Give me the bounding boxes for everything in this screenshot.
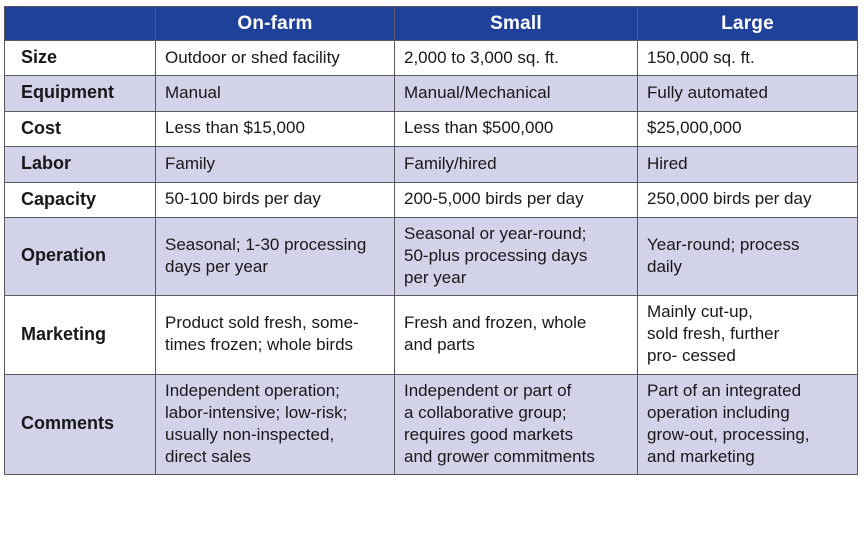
cell-line: Hired [647, 153, 848, 175]
cell-small: Seasonal or year-round;50-plus processin… [395, 217, 638, 295]
cell-large: Part of an integratedoperation including… [638, 374, 858, 474]
row-label-marketing: Marketing [5, 296, 156, 374]
table-row: EquipmentManualManual/MechanicalFully au… [5, 76, 858, 111]
cell-onfarm: Outdoor or shed facility [156, 41, 395, 76]
cell-line: Part of an integrated [647, 380, 848, 402]
cell-onfarm: Manual [156, 76, 395, 111]
cell-line: times frozen; whole birds [165, 334, 385, 356]
cell-large: Year-round; processdaily [638, 217, 858, 295]
row-label-capacity: Capacity [5, 182, 156, 217]
row-label-comments: Comments [5, 374, 156, 474]
cell-line: Less than $15,000 [165, 117, 385, 139]
cell-line: 250,000 birds per day [647, 188, 848, 210]
cell-line: Outdoor or shed facility [165, 47, 385, 69]
cell-onfarm: Seasonal; 1-30 processingdays per year [156, 217, 395, 295]
cell-small: 200-5,000 birds per day [395, 182, 638, 217]
facility-comparison-table: On-farm Small Large SizeOutdoor or shed … [4, 6, 858, 475]
cell-line: Product sold fresh, some- [165, 312, 385, 334]
row-label-labor: Labor [5, 147, 156, 182]
cell-small: Independent or part ofa collaborative gr… [395, 374, 638, 474]
cell-line: $25,000,000 [647, 117, 848, 139]
cell-line: 50-100 birds per day [165, 188, 385, 210]
cell-line: Manual [165, 82, 385, 104]
cell-line: sold fresh, further [647, 323, 848, 345]
comparison-table-container: On-farm Small Large SizeOutdoor or shed … [4, 6, 857, 524]
cell-line: Fully automated [647, 82, 848, 104]
cell-line: and marketing [647, 446, 848, 468]
header-row: On-farm Small Large [5, 7, 858, 41]
cell-line: Year-round; process [647, 234, 848, 256]
table-row: LaborFamilyFamily/hiredHired [5, 147, 858, 182]
cell-line: Family [165, 153, 385, 175]
cell-line: daily [647, 256, 848, 278]
cell-large: Hired [638, 147, 858, 182]
cell-large: 150,000 sq. ft. [638, 41, 858, 76]
cell-line: Seasonal; 1-30 processing [165, 234, 385, 256]
cell-line: 200-5,000 birds per day [404, 188, 628, 210]
cell-small: 2,000 to 3,000 sq. ft. [395, 41, 638, 76]
cell-onfarm: Less than $15,000 [156, 111, 395, 146]
cell-line: per year [404, 267, 628, 289]
cell-line: and grower commitments [404, 446, 628, 468]
cell-large: Mainly cut-up,sold fresh, furtherpro- ce… [638, 296, 858, 374]
cell-small: Manual/Mechanical [395, 76, 638, 111]
cell-line: Independent operation; [165, 380, 385, 402]
cell-line: and parts [404, 334, 628, 356]
table-row: OperationSeasonal; 1-30 processingdays p… [5, 217, 858, 295]
cell-small: Less than $500,000 [395, 111, 638, 146]
cell-line: 50-plus processing days [404, 245, 628, 267]
cell-line: usually non-inspected, [165, 424, 385, 446]
cell-line: Independent or part of [404, 380, 628, 402]
table-row: Capacity50-100 birds per day200-5,000 bi… [5, 182, 858, 217]
table-row: SizeOutdoor or shed facility2,000 to 3,0… [5, 41, 858, 76]
cell-line: Manual/Mechanical [404, 82, 628, 104]
cell-line: 150,000 sq. ft. [647, 47, 848, 69]
table-row: CostLess than $15,000Less than $500,000$… [5, 111, 858, 146]
row-label-cost: Cost [5, 111, 156, 146]
cell-line: Fresh and frozen, whole [404, 312, 628, 334]
cell-line: labor-intensive; low-risk; [165, 402, 385, 424]
table-row: CommentsIndependent operation;labor-inte… [5, 374, 858, 474]
cell-small: Fresh and frozen, wholeand parts [395, 296, 638, 374]
cell-small: Family/hired [395, 147, 638, 182]
cell-line: direct sales [165, 446, 385, 468]
cell-line: a collaborative group; [404, 402, 628, 424]
header-cell-onfarm: On-farm [156, 7, 395, 41]
cell-line: operation including [647, 402, 848, 424]
cell-onfarm: Family [156, 147, 395, 182]
cell-large: 250,000 birds per day [638, 182, 858, 217]
row-label-equipment: Equipment [5, 76, 156, 111]
cell-line: Less than $500,000 [404, 117, 628, 139]
table-body: SizeOutdoor or shed facility2,000 to 3,0… [5, 41, 858, 475]
cell-onfarm: 50-100 birds per day [156, 182, 395, 217]
cell-line: days per year [165, 256, 385, 278]
cell-large: $25,000,000 [638, 111, 858, 146]
cell-line: pro- cessed [647, 345, 848, 367]
cell-line: Seasonal or year-round; [404, 223, 628, 245]
header-cell-small: Small [395, 7, 638, 41]
cell-line: Mainly cut-up, [647, 301, 848, 323]
table-header: On-farm Small Large [5, 7, 858, 41]
cell-line: requires good markets [404, 424, 628, 446]
row-label-size: Size [5, 41, 156, 76]
cell-large: Fully automated [638, 76, 858, 111]
row-label-operation: Operation [5, 217, 156, 295]
cell-line: Family/hired [404, 153, 628, 175]
header-cell-corner [5, 7, 156, 41]
cell-line: 2,000 to 3,000 sq. ft. [404, 47, 628, 69]
cell-onfarm: Product sold fresh, some-times frozen; w… [156, 296, 395, 374]
cell-onfarm: Independent operation;labor-intensive; l… [156, 374, 395, 474]
header-cell-large: Large [638, 7, 858, 41]
cell-line: grow-out, processing, [647, 424, 848, 446]
table-row: MarketingProduct sold fresh, some-times … [5, 296, 858, 374]
